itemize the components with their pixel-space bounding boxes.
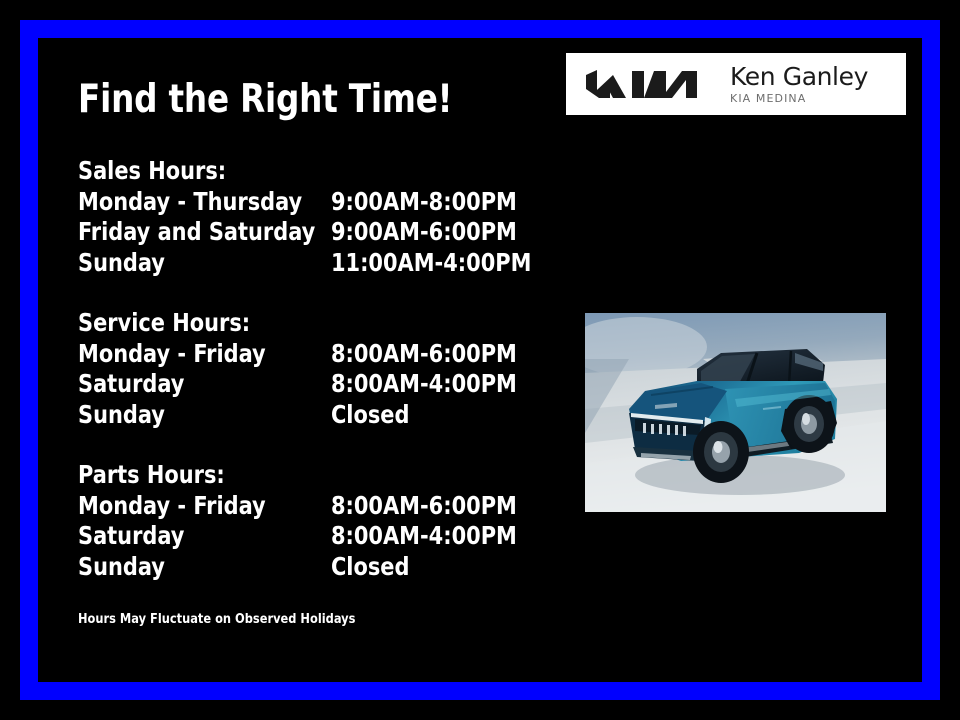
hours-row: Sunday 11:00AM-4:00PM xyxy=(78,248,562,279)
hours-time-value: Closed xyxy=(331,552,562,583)
slide-canvas: Find the Right Time! Sales Hours: Monday… xyxy=(0,0,960,720)
kia-logo-icon xyxy=(584,68,700,100)
hours-time-value: 8:00AM-4:00PM xyxy=(331,521,562,552)
hours-day-label: Monday - Thursday xyxy=(78,187,331,218)
hours-day-label: Sunday xyxy=(78,248,331,279)
hours-section-sales: Sales Hours: Monday - Thursday 9:00AM-8:… xyxy=(78,156,598,278)
hours-row: Monday - Friday 8:00AM-6:00PM xyxy=(78,339,562,370)
section-heading-sales: Sales Hours: xyxy=(78,156,562,187)
hours-row: Monday - Friday 8:00AM-6:00PM xyxy=(78,491,562,522)
hours-day-label: Saturday xyxy=(78,521,331,552)
slide-content-area: Find the Right Time! Sales Hours: Monday… xyxy=(38,38,922,682)
hours-day-label: Monday - Friday xyxy=(78,491,331,522)
hours-list: Sales Hours: Monday - Thursday 9:00AM-8:… xyxy=(78,156,598,582)
hours-time-value: Closed xyxy=(331,400,562,431)
hours-row: Sunday Closed xyxy=(78,552,562,583)
hours-row: Saturday 8:00AM-4:00PM xyxy=(78,521,562,552)
section-heading-parts: Parts Hours: xyxy=(78,460,562,491)
dealer-name: Ken Ganley xyxy=(730,64,868,90)
hours-time-value: 8:00AM-6:00PM xyxy=(331,339,562,370)
dealer-logo-banner: Ken Ganley KIA MEDINA xyxy=(566,53,906,115)
holiday-disclaimer: Hours May Fluctuate on Observed Holidays xyxy=(78,610,355,628)
hours-day-label: Monday - Friday xyxy=(78,339,331,370)
page-title: Find the Right Time! xyxy=(78,78,452,122)
dealer-name-group: Ken Ganley KIA MEDINA xyxy=(730,64,868,105)
hours-day-label: Friday and Saturday xyxy=(78,217,331,248)
hours-row: Saturday 8:00AM-4:00PM xyxy=(78,369,562,400)
hours-row: Monday - Thursday 9:00AM-8:00PM xyxy=(78,187,562,218)
hours-time-value: 9:00AM-8:00PM xyxy=(331,187,562,218)
hours-row: Friday and Saturday 9:00AM-6:00PM xyxy=(78,217,562,248)
section-heading-service: Service Hours: xyxy=(78,308,562,339)
hours-time-value: 8:00AM-4:00PM xyxy=(331,369,562,400)
dealer-subtitle: KIA MEDINA xyxy=(730,92,868,105)
hours-section-service: Service Hours: Monday - Friday 8:00AM-6:… xyxy=(78,308,598,430)
hours-day-label: Sunday xyxy=(78,400,331,431)
hours-section-parts: Parts Hours: Monday - Friday 8:00AM-6:00… xyxy=(78,460,598,582)
vehicle-photo xyxy=(585,313,886,512)
hours-time-value: 8:00AM-6:00PM xyxy=(331,491,562,522)
hours-day-label: Sunday xyxy=(78,552,331,583)
hours-time-value: 9:00AM-6:00PM xyxy=(331,217,562,248)
hours-time-value: 11:00AM-4:00PM xyxy=(331,248,562,279)
vehicle-photo-illustration xyxy=(585,313,886,512)
hours-row: Sunday Closed xyxy=(78,400,562,431)
hours-day-label: Saturday xyxy=(78,369,331,400)
